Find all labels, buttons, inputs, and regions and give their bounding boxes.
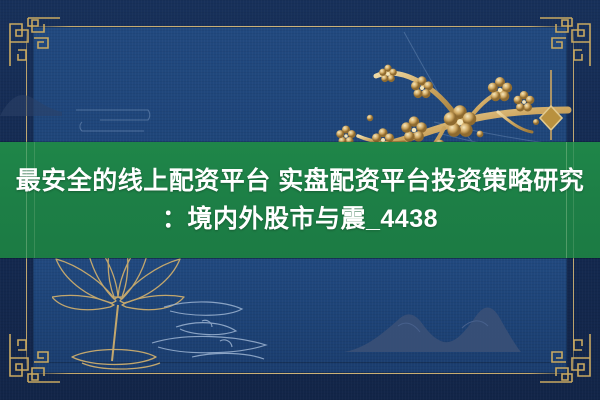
- title-card: 最安全的线上配资平台 实盘配资平台投资策略研究 ：境内外股市与震_4438: [0, 0, 600, 400]
- meander-corner-icon-top-right: [538, 14, 592, 68]
- page-title-line-1: 最安全的线上配资平台 实盘配资平台投资策略研究: [16, 164, 584, 198]
- frame-line-bottom: [26, 373, 574, 374]
- meander-corner-icon-bottom-left: [8, 332, 62, 386]
- frame-line-top: [26, 26, 574, 27]
- page-title-line-2: ：境内外股市与震_4438: [162, 202, 438, 236]
- inner-panel-lower: [33, 258, 567, 363]
- meander-corner-icon-bottom-right: [538, 332, 592, 386]
- meander-corner-icon-top-left: [8, 14, 62, 68]
- title-band: 最安全的线上配资平台 实盘配资平台投资策略研究 ：境内外股市与震_4438: [0, 142, 600, 258]
